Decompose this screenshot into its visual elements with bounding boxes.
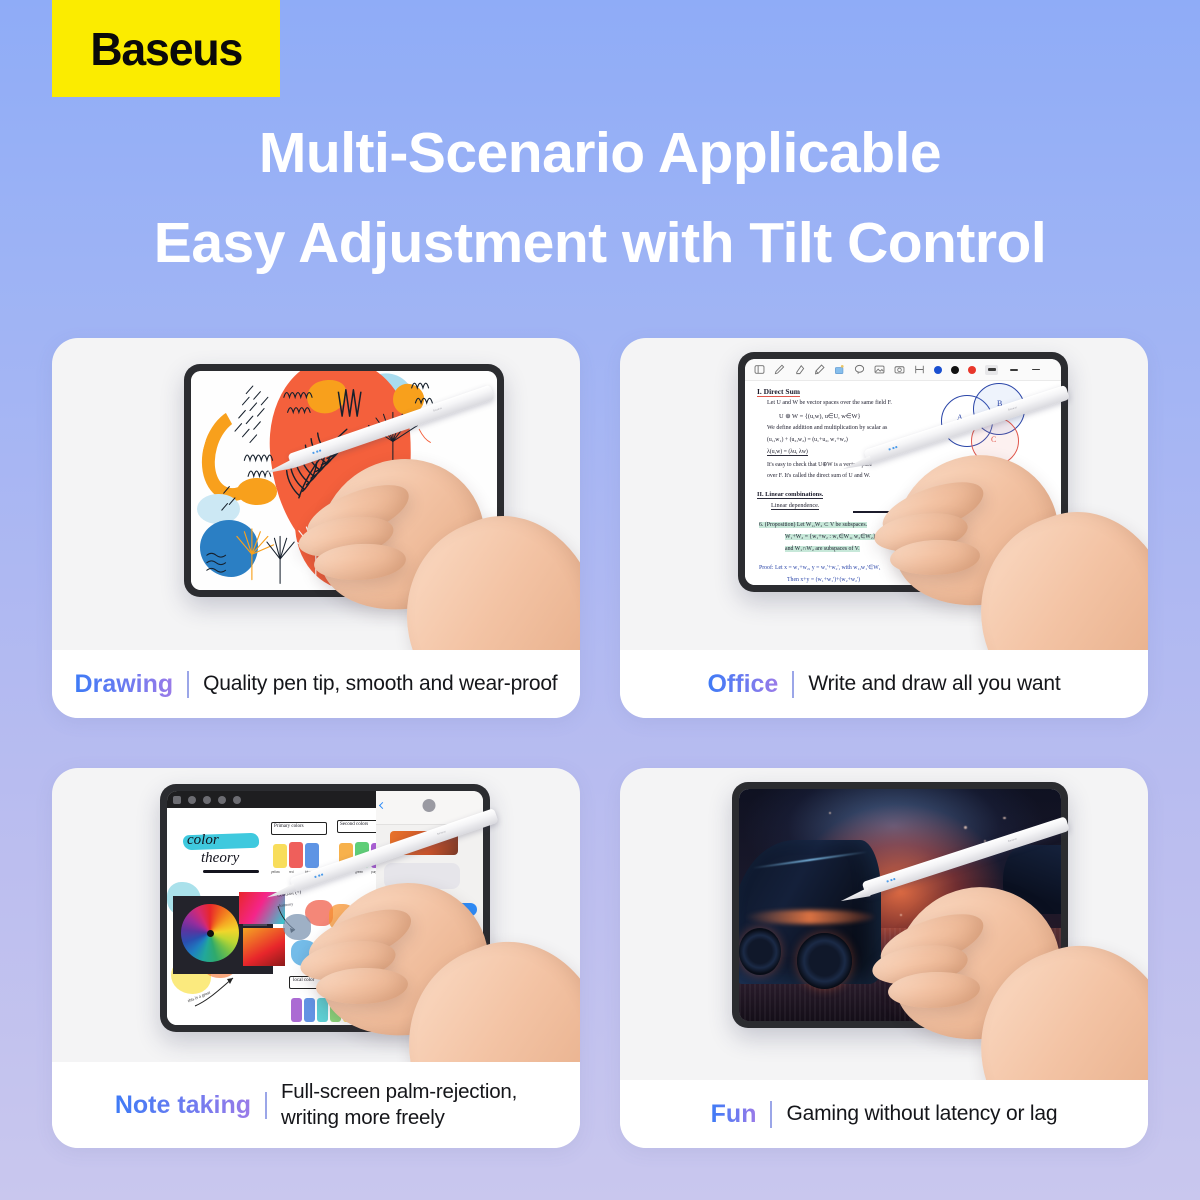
hand-with-stylus-office: Baseus bbox=[858, 398, 1148, 650]
sidebar-icon[interactable] bbox=[754, 364, 765, 375]
stylus-led bbox=[888, 448, 891, 451]
note-line-heading-2: II. Linear combinations. bbox=[757, 491, 823, 499]
caption-drawing: Drawing Quality pen tip, smooth and wear… bbox=[52, 650, 580, 718]
brand-logo: Baseus bbox=[52, 0, 280, 97]
scenario-card-drawing[interactable]: Baseus Drawing Quality pen tip, smooth a… bbox=[52, 338, 580, 718]
sketch-title-theory: theory bbox=[201, 850, 239, 867]
pen-icon[interactable] bbox=[774, 364, 785, 375]
game-car-wheel-front bbox=[797, 933, 852, 989]
note-taking-media: color theory bbox=[52, 768, 580, 1062]
note-line-3: U ⊕ W = {(u,w), u∈U, w∈W} bbox=[779, 412, 861, 420]
stylus-led-indicators bbox=[886, 878, 895, 883]
hand-with-stylus-note-taking: Baseus bbox=[282, 824, 580, 1062]
color-swatch-blue[interactable] bbox=[934, 366, 942, 374]
stroke-weight-thick[interactable] bbox=[985, 365, 998, 375]
text-icon[interactable] bbox=[914, 364, 925, 375]
caption-desc-note-taking: Full-screen palm-rejection, writing more… bbox=[281, 1079, 517, 1131]
office-media: I. Direct Sum Let U and W be vector spac… bbox=[620, 338, 1148, 650]
image-icon[interactable] bbox=[874, 364, 885, 375]
stylus-brand-label: Baseus bbox=[437, 830, 447, 836]
stylus-led bbox=[890, 879, 893, 882]
highlighter-icon[interactable] bbox=[814, 364, 825, 375]
note-line-15: Then x+y = (w₁+w₁')+(w₂+w₂') bbox=[787, 577, 860, 583]
caption-title-fun: Fun bbox=[711, 1100, 757, 1129]
caption-desc-office: Write and draw all you want bbox=[808, 671, 1060, 698]
game-car-underglow bbox=[745, 910, 874, 924]
color-swatch-black[interactable] bbox=[951, 366, 959, 374]
caption-divider bbox=[770, 1101, 772, 1128]
caption-desc-fun: Gaming without latency or lag bbox=[786, 1101, 1057, 1128]
game-light-spark bbox=[1003, 817, 1006, 820]
annotation-arrow-1 bbox=[191, 968, 251, 1010]
title-underline bbox=[203, 870, 259, 873]
contact-avatar bbox=[423, 799, 436, 812]
stylus-led-indicators bbox=[314, 873, 323, 878]
headline-line-1: Multi-Scenario Applicable bbox=[0, 122, 1200, 186]
scenario-card-fun[interactable]: Baseus Fun Gaming without latency or lag bbox=[620, 768, 1148, 1148]
stylus-brand-label: Baseus bbox=[1008, 406, 1018, 412]
caption-divider bbox=[792, 671, 794, 698]
note-line-13: and W₁∩W₂ are subspaces of V. bbox=[785, 546, 860, 552]
headline-line-2: Easy Adjustment with Tilt Control bbox=[0, 212, 1200, 276]
game-car-wheel-rear bbox=[739, 928, 781, 974]
note-line-8: over F. It's called the direct sum of U … bbox=[767, 473, 870, 479]
headline-line-1-wrap: Multi-Scenario Applicable bbox=[0, 122, 1200, 186]
stylus-led bbox=[321, 873, 324, 876]
stylus-led bbox=[895, 446, 898, 449]
adjust-icon[interactable] bbox=[188, 796, 196, 804]
stylus-brand-label: Baseus bbox=[1008, 837, 1018, 843]
stylus-led bbox=[893, 878, 896, 881]
stylus-led bbox=[892, 447, 895, 450]
swatch-label-yellow: yellow bbox=[271, 870, 280, 874]
stylus-led bbox=[316, 450, 319, 453]
note-line-11: 6. (Proposition) Let W₁,W₂ ⊂ V be subspa… bbox=[759, 522, 867, 528]
scenario-card-office[interactable]: I. Direct Sum Let U and W be vector spac… bbox=[620, 338, 1148, 718]
stylus-led bbox=[319, 449, 322, 452]
caption-desc-line-1: Full-screen palm-rejection, bbox=[281, 1080, 517, 1103]
stylus-led bbox=[318, 874, 321, 877]
stylus-led bbox=[886, 880, 889, 883]
headline-line-2-wrap: Easy Adjustment with Tilt Control bbox=[0, 212, 1200, 276]
camera-icon[interactable] bbox=[894, 364, 905, 375]
scenario-card-note-taking[interactable]: color theory bbox=[52, 768, 580, 1148]
selection-icon[interactable] bbox=[218, 796, 226, 804]
drawing-media: Baseus bbox=[52, 338, 580, 650]
caption-divider bbox=[265, 1092, 267, 1119]
caption-title-office: Office bbox=[707, 670, 778, 699]
brand-logo-text: Baseus bbox=[90, 22, 242, 76]
stylus-led bbox=[312, 452, 315, 455]
note-line-heading-1: I. Direct Sum bbox=[757, 387, 800, 397]
caption-desc-drawing: Quality pen tip, smooth and wear-proof bbox=[203, 671, 557, 698]
caption-title-drawing: Drawing bbox=[75, 670, 174, 699]
scenario-card-grid: Baseus Drawing Quality pen tip, smooth a… bbox=[52, 338, 1148, 1148]
stylus-brand-label: Baseus bbox=[433, 407, 443, 413]
stroke-weight-medium[interactable] bbox=[1007, 365, 1020, 375]
lasso-icon[interactable] bbox=[854, 364, 865, 375]
color-wheel-hub bbox=[207, 930, 214, 937]
note-line-6: λ(u,w) = (λu, λw) bbox=[767, 449, 808, 456]
stylus-led-indicators bbox=[888, 446, 897, 451]
caption-note-taking: Note taking Full-screen palm-rejection, … bbox=[52, 1062, 580, 1148]
fun-media: Baseus bbox=[620, 768, 1148, 1080]
stylus-led-indicators bbox=[312, 449, 321, 454]
color-swatch-red[interactable] bbox=[968, 366, 976, 374]
transform-icon[interactable] bbox=[233, 796, 241, 804]
caption-office: Office Write and draw all you want bbox=[620, 650, 1148, 718]
caption-fun: Fun Gaming without latency or lag bbox=[620, 1080, 1148, 1148]
note-line-10: Linear dependence. bbox=[771, 502, 819, 510]
hand-with-stylus-drawing: Baseus bbox=[280, 400, 580, 650]
notes-toolbar[interactable] bbox=[745, 359, 1061, 381]
smudge-icon[interactable] bbox=[203, 796, 211, 804]
caption-title-note-taking: Note taking bbox=[115, 1091, 251, 1120]
hand-with-stylus-gaming: Baseus bbox=[856, 830, 1148, 1080]
sketch-title-color: color bbox=[187, 832, 219, 849]
stylus-led bbox=[314, 876, 317, 879]
eraser-icon[interactable] bbox=[794, 364, 805, 375]
gallery-icon[interactable] bbox=[173, 796, 181, 804]
caption-desc-line-2: writing more freely bbox=[281, 1106, 445, 1129]
caption-divider bbox=[187, 671, 189, 698]
note-line-5: (u₁,w₁) + (u₂,w₂) = (u₁+u₂, w₁+w₂) bbox=[767, 437, 848, 443]
stroke-weight-thin[interactable] bbox=[1029, 365, 1042, 375]
color-picker-icon[interactable] bbox=[834, 364, 845, 375]
back-chevron-icon[interactable] bbox=[379, 802, 386, 809]
